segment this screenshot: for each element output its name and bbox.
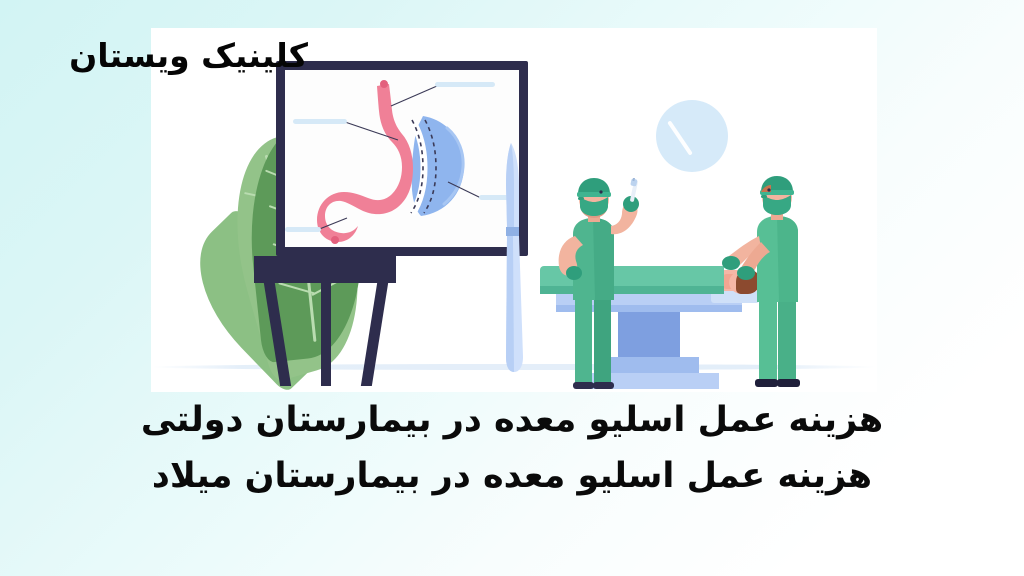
surgical-lamp (656, 100, 728, 172)
illustration-canvas (151, 28, 877, 392)
caption-line-2: هزینه عمل اسلیو معده در بیمارستان میلاد (0, 454, 1024, 498)
page-root: کلینیک ویستان (0, 0, 1024, 576)
surgeon-right (717, 176, 827, 392)
stomach-sleeve-diagram (285, 70, 519, 247)
scalpel-icon (502, 141, 525, 374)
easel-leg-center (321, 283, 331, 386)
label-bar-2 (293, 119, 347, 124)
caption-block: هزینه عمل اسلیو معده در بیمارستان دولتی … (0, 398, 1024, 498)
easel-leg-right (361, 283, 388, 386)
whiteboard-frame (276, 61, 528, 256)
label-line-1 (391, 86, 437, 106)
stomach-body (317, 84, 413, 242)
illustration-panel (151, 28, 877, 392)
brand-title: کلینیک ویستان (8, 38, 308, 74)
surgeon-left (549, 178, 659, 390)
caption-line-1: هزینه عمل اسلیو معده در بیمارستان دولتی (0, 398, 1024, 442)
easel-tray (254, 256, 396, 283)
label-bar-1 (435, 82, 495, 87)
lamp-glint (667, 120, 693, 155)
label-bar-4 (285, 227, 321, 232)
